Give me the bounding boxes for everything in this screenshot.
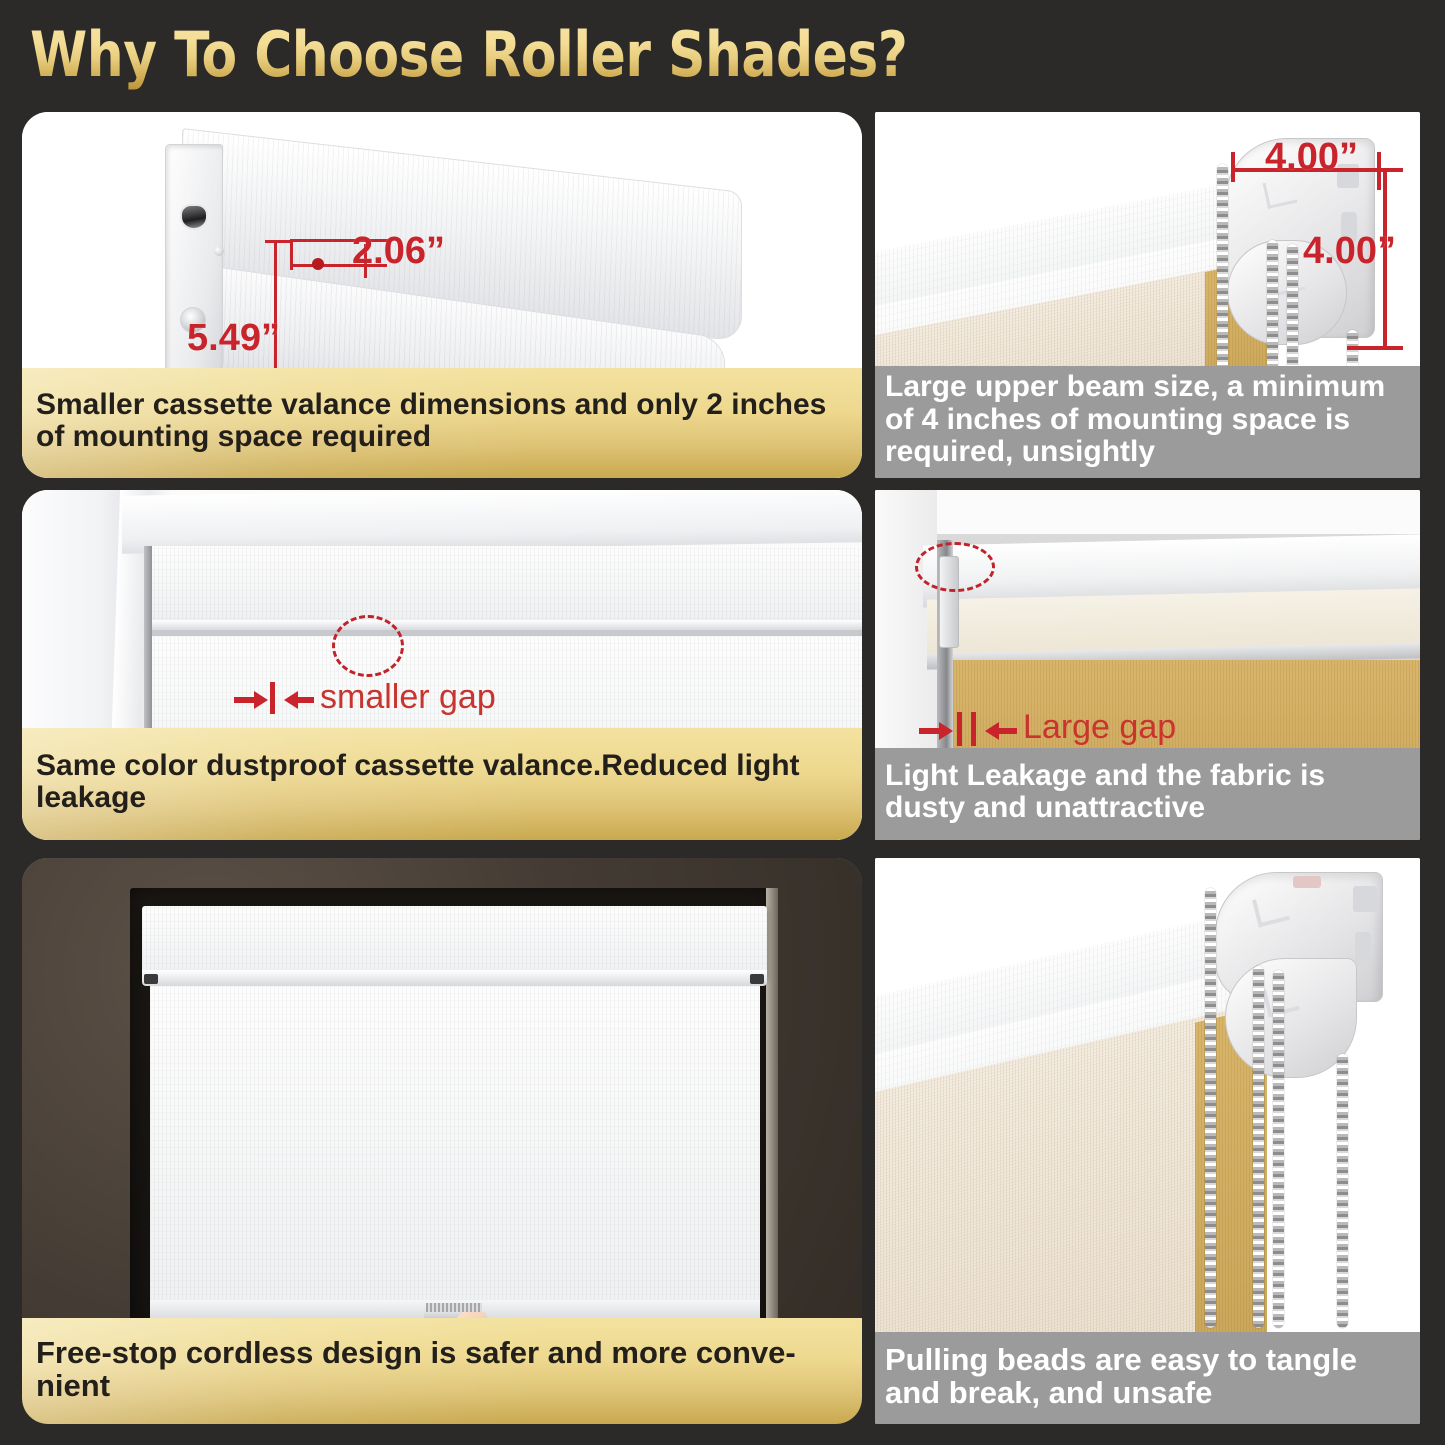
gap-marker-bar-a — [957, 712, 962, 746]
gap-arrow-left-head — [939, 722, 953, 740]
gap-detail-circle — [332, 615, 404, 677]
valance-endcap-left-icon — [144, 974, 158, 984]
bead-chain-a — [1205, 888, 1216, 1328]
gap-arrow-right-head — [985, 722, 999, 740]
panel-4-caption-bar: Light Leakage and the fabric is dusty an… — [875, 748, 1420, 840]
dim-width-dot — [312, 258, 324, 270]
smaller-gap-label: smaller gap — [320, 678, 496, 717]
panel-6-caption-bar: Pulling beads are easy to tangle and bre… — [875, 1332, 1420, 1424]
gap-arrow-right-head — [284, 691, 298, 709]
panel-6-caption-text: Pulling beads are easy to tangle and bre… — [885, 1343, 1406, 1410]
panel-large-upper-beam: 4.00” 4.00” Large upper beam size, a min… — [875, 112, 1420, 478]
dim-4w-tick-left — [1231, 152, 1235, 182]
bead-chain-1 — [1217, 164, 1228, 394]
dim-4h-tick-bottom — [1347, 346, 1403, 350]
shade-fabric-panel — [150, 986, 760, 1316]
white-wall-panel — [875, 490, 1420, 534]
gap-detail-circle — [915, 542, 995, 592]
panel-3-caption-bar: Same color dustproof cassette valance.Re… — [22, 728, 862, 840]
panel-5-caption-text: Free-stop cordless design is safer and m… — [36, 1336, 848, 1403]
bead-chain-b — [1253, 966, 1264, 1328]
panel-dustproof-cassette: smaller gap Same color dustproof cassett… — [22, 490, 862, 840]
bead-chain-d — [1337, 1054, 1348, 1328]
gap-arrow-right-shaft — [298, 697, 314, 703]
valance-bottom-edge — [150, 620, 862, 630]
panel-3-caption-text: Same color dustproof cassette valance.Re… — [36, 750, 848, 815]
dimension-beam-height-label: 4.00” — [1303, 230, 1396, 273]
panel-1-caption-text: Smaller cassette valance dimensions and … — [36, 389, 848, 454]
panel-light-leakage: Large gap Light Leakage and the fabric i… — [875, 490, 1420, 840]
bead-chain-c — [1273, 970, 1284, 1328]
panel-1-caption-bar: Smaller cassette valance dimensions and … — [22, 368, 862, 478]
dim-4h-tick-top — [1375, 168, 1403, 172]
panel-cordless-design: Free-stop cordless design is safer and m… — [22, 858, 862, 1424]
panel-smaller-cassette: 2.06” 5.49” Smaller cassette valance dim… — [22, 112, 862, 478]
endcap-pin-icon — [214, 246, 224, 256]
gap-marker-bar — [270, 682, 275, 714]
dim-height-tick-top — [265, 240, 291, 243]
window-frame-top — [122, 490, 862, 554]
endcap-slot-icon — [180, 204, 208, 230]
dimension-width-label: 2.06” — [352, 230, 445, 273]
dimension-beam-width-label: 4.00” — [1265, 136, 1358, 179]
dimension-height-label: 5.49” — [187, 317, 280, 360]
shade-rail-line — [150, 630, 862, 636]
panel-5-caption-bar: Free-stop cordless design is safer and m… — [22, 1318, 862, 1424]
brand-chip — [426, 1303, 482, 1312]
gap-marker-bar-b — [971, 712, 976, 746]
panel-4-caption-text: Light Leakage and the fabric is dusty an… — [885, 760, 1406, 825]
gap-arrow-left-shaft — [919, 728, 941, 734]
cassette-valance — [142, 906, 767, 978]
gap-arrow-left-shaft — [234, 697, 256, 703]
bracket-slot-a-icon — [1353, 886, 1377, 912]
bracket-slot-b-icon — [1355, 932, 1371, 966]
cassette-valance-strip — [150, 546, 862, 626]
panel-2-caption-text: Large upper beam size, a minimum of 4 in… — [885, 371, 1406, 468]
valance-lip — [142, 970, 767, 986]
page-title: Why To Choose Roller Shades? — [30, 18, 907, 91]
title-bar: Why To Choose Roller Shades? — [0, 0, 1445, 105]
gap-arrow-right-shaft — [999, 728, 1017, 734]
gap-arrow-left-head — [254, 691, 268, 709]
window-recess-highlight — [766, 888, 778, 1338]
dim-width-tick-left — [290, 240, 293, 270]
panel-2-caption-bar: Large upper beam size, a minimum of 4 in… — [875, 366, 1420, 478]
valance-endcap-right-icon — [750, 974, 764, 984]
large-gap-label: Large gap — [1023, 708, 1176, 747]
bracket-slot-c-icon — [1293, 876, 1321, 888]
panel-pulling-beads: Pulling beads are easy to tangle and bre… — [875, 858, 1420, 1424]
